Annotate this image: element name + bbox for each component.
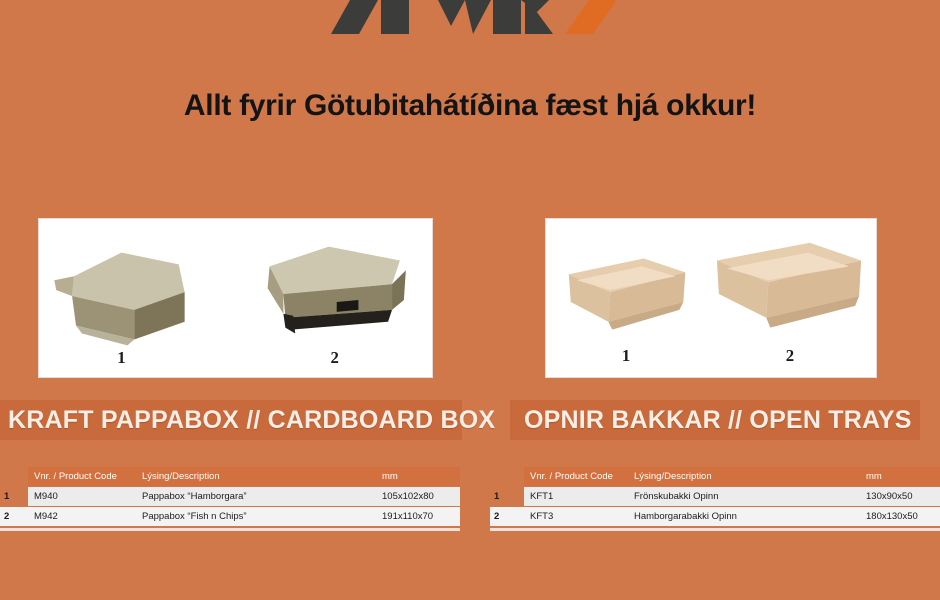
- section-banner-label: KRAFT PAPPABOX // CARDBOARD BOX: [8, 406, 495, 435]
- column-header-code: Vnr. / Product Code: [28, 467, 136, 486]
- cell-product-code: M942: [28, 507, 136, 526]
- column-header-code: Vnr. / Product Code: [524, 467, 628, 486]
- brand-logo: [0, 0, 940, 34]
- cell-dimensions: 105x102x80: [376, 487, 460, 506]
- table-header-row: Vnr. / Product Code Lýsing/Description m…: [0, 467, 460, 486]
- product-photo-kraft-pappabox: 1 2: [38, 218, 433, 378]
- cell-description: Hamborgarabakki Opinn: [628, 507, 860, 526]
- section-banner-label: OPNIR BAKKAR // OPEN TRAYS: [524, 406, 912, 435]
- column-header-number: [490, 467, 524, 486]
- cell-number: 2: [490, 507, 524, 526]
- table-row: 2 M942 Pappabox “Fish n Chips” 191x110x7…: [0, 507, 460, 526]
- table-row: 2 KFT3 Hamborgarabakki Opinn 180x130x50: [490, 507, 940, 526]
- cell-number: 1: [0, 487, 28, 506]
- column-header-mm: mm: [860, 467, 940, 486]
- photo-item-label-2: 2: [786, 346, 794, 365]
- product-table: Vnr. / Product Code Lýsing/Description m…: [490, 466, 940, 527]
- column-header-desc: Lýsing/Description: [136, 467, 376, 486]
- open-tray-illustration: 1 2: [546, 219, 876, 377]
- cell-dimensions: 191x110x70: [376, 507, 460, 526]
- cell-number: 2: [0, 507, 28, 526]
- product-table-opnir-bakkar: Vnr. / Product Code Lýsing/Description m…: [490, 466, 940, 531]
- photo-item-label-2: 2: [331, 348, 339, 367]
- cell-dimensions: 130x90x50: [860, 487, 940, 506]
- table-row: 1 KFT1 Frönskubakki Opinn 130x90x50: [490, 487, 940, 506]
- photo-item-label-1: 1: [622, 346, 630, 365]
- cell-product-code: KFT1: [524, 487, 628, 506]
- section-banner-kraft-pappabox: KRAFT PAPPABOX // CARDBOARD BOX: [0, 400, 462, 440]
- column-header-number: [0, 467, 28, 486]
- column-header-mm: mm: [376, 467, 460, 486]
- cell-product-code: KFT3: [524, 507, 628, 526]
- mk-logo-icon: [325, 0, 615, 34]
- table-header-row: Vnr. / Product Code Lýsing/Description m…: [490, 467, 940, 486]
- photo-item-label-1: 1: [117, 348, 125, 367]
- cell-product-code: M940: [28, 487, 136, 506]
- cell-number: 1: [490, 487, 524, 506]
- cardboard-box-illustration: 1 2: [39, 219, 432, 377]
- photo-panel: 1 2: [38, 218, 433, 378]
- product-table-kraft-pappabox: Vnr. / Product Code Lýsing/Description m…: [0, 466, 460, 531]
- column-header-desc: Lýsing/Description: [628, 467, 860, 486]
- cell-description: Frönskubakki Opinn: [628, 487, 860, 506]
- section-banner-opnir-bakkar: OPNIR BAKKAR // OPEN TRAYS: [510, 400, 920, 440]
- product-photo-opnir-bakkar: 1 2: [545, 218, 877, 378]
- table-row: 1 M940 Pappabox “Hamborgara” 105x102x80: [0, 487, 460, 506]
- photo-panel: 1 2: [545, 218, 877, 378]
- product-table: Vnr. / Product Code Lýsing/Description m…: [0, 466, 460, 527]
- cell-description: Pappabox “Fish n Chips”: [136, 507, 376, 526]
- cell-dimensions: 180x130x50: [860, 507, 940, 526]
- page-title: Allt fyrir Götubitahátíðina fæst hjá okk…: [0, 88, 940, 124]
- cell-description: Pappabox “Hamborgara”: [136, 487, 376, 506]
